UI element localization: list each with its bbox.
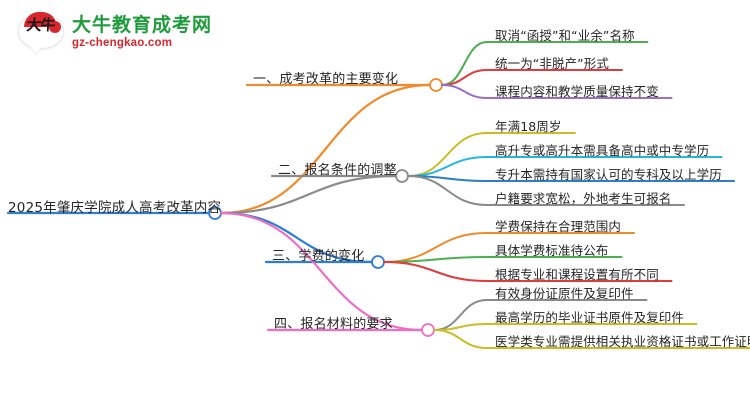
branch-label-2: 二、报名条件的调整 — [278, 159, 397, 178]
branch-label-1: 一、成考改革的主要变化 — [253, 68, 398, 87]
branch-label-3: 三、学费的变化 — [272, 245, 364, 264]
leaf-label-2-2: 高升专或高升本需具备高中或中专学历 — [495, 140, 709, 159]
leaf-label-1-3: 课程内容和教学质量保持不变 — [495, 81, 659, 100]
leaf-label-2-4: 户籍要求宽松，外地考生可报名 — [495, 188, 671, 207]
branch-label-4: 四、报名材料的要求 — [274, 313, 393, 332]
leaf-label-3-3: 根据专业和课程设置有所不同 — [495, 264, 659, 283]
leaf-label-4-2: 最高学历的毕业证书原件及复印件 — [495, 307, 684, 326]
leaf-label-4-1: 有效身份证原件及复印件 — [495, 283, 634, 302]
leaf-label-2-3: 专升本需持有国家认可的专科及以上学历 — [495, 164, 722, 183]
mindmap-canvas: 大牛 大牛教育成考网 gz-chengkao.com 2025年肇庆学院成人高考… — [0, 0, 750, 410]
leaf-label-3-1: 学费保持在合理范围内 — [495, 216, 621, 235]
leaf-label-4-3: 医学类专业需提供相关执业资格证书或工作证明 — [495, 331, 750, 350]
leaf-label-3-2: 具体学费标准待公布 — [495, 240, 608, 259]
leaf-label-2-1: 年满18周岁 — [495, 116, 562, 135]
leaf-label-1-1: 取消“函授”和“业余”名称 — [495, 25, 635, 44]
leaf-label-1-2: 统一为“非脱产”形式 — [495, 53, 609, 72]
root-node-label: 2025年肇庆学院成人高考改革内容 — [8, 196, 221, 216]
